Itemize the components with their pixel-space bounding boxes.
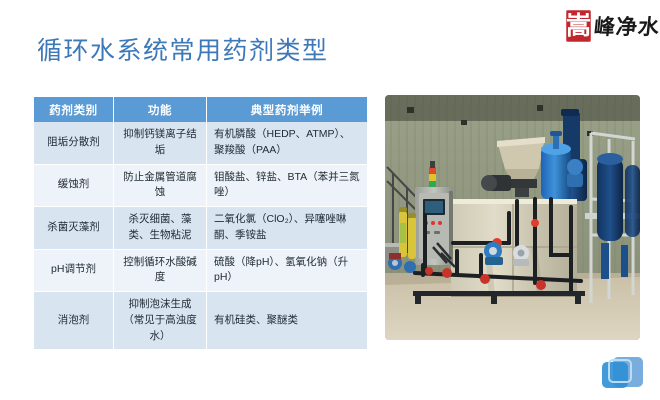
corner-decoration [600,355,648,393]
cell-function: 抑制泡沫生成（常见于高浊度水） [114,292,207,350]
cell-examples: 有机膦酸（HEDP、ATMP）、聚羧酸（PAA） [207,122,368,164]
cell-category: 缓蚀剂 [34,164,114,207]
cell-examples: 硫酸（降pH）、氢氧化钠（升pH） [207,249,368,292]
page-title: 循环水系统常用药剂类型 [37,31,329,67]
chemical-types-table: 药剂类别 功能 典型药剂举例 阻垢分散剂 抑制钙镁离子结垢 有机膦酸（HEDP、… [33,97,368,350]
company-logo: 嵩 峰净水 [566,8,652,44]
table-row: pH调节剂 控制循环水酸碱度 硫酸（降pH）、氢氧化钠（升pH） [34,249,368,292]
cell-category: 消泡剂 [34,292,114,350]
decoration-square-outline [608,359,632,383]
cell-function: 控制循环水酸碱度 [114,249,207,292]
slide-canvas: 嵩 峰净水 循环水系统常用药剂类型 药剂类别 功能 典型药剂举例 阻垢分散剂 抑… [0,0,660,400]
cell-category: 杀菌灭藻剂 [34,207,114,250]
equipment-photo [385,95,640,340]
equipment-photo-illustration [385,95,640,340]
table-header-row: 药剂类别 功能 典型药剂举例 [34,97,368,122]
cell-function: 抑制钙镁离子结垢 [114,122,207,164]
column-header-category: 药剂类别 [34,97,114,122]
cell-function: 防止金属管道腐蚀 [114,164,207,207]
cell-category: 阻垢分散剂 [34,122,114,164]
table-row: 杀菌灭藻剂 杀灭细菌、藻类、生物粘泥 二氧化氯（ClO₂）、异噻唑啉酮、季铵盐 [34,207,368,250]
table-row: 消泡剂 抑制泡沫生成（常见于高浊度水） 有机硅类、聚醚类 [34,292,368,350]
table-row: 阻垢分散剂 抑制钙镁离子结垢 有机膦酸（HEDP、ATMP）、聚羧酸（PAA） [34,122,368,164]
column-header-examples: 典型药剂举例 [207,97,368,122]
cell-examples: 钼酸盐、锌盐、BTA（苯并三氮唑） [207,164,368,207]
logo-seal-icon: 嵩 [566,10,591,42]
cell-examples: 有机硅类、聚醚类 [207,292,368,350]
column-header-function: 功能 [114,97,207,122]
cell-examples: 二氧化氯（ClO₂）、异噻唑啉酮、季铵盐 [207,207,368,250]
logo-wordmark: 峰净水 [593,16,660,37]
cell-function: 杀灭细菌、藻类、生物粘泥 [114,207,207,250]
table-row: 缓蚀剂 防止金属管道腐蚀 钼酸盐、锌盐、BTA（苯并三氮唑） [34,164,368,207]
cell-category: pH调节剂 [34,249,114,292]
